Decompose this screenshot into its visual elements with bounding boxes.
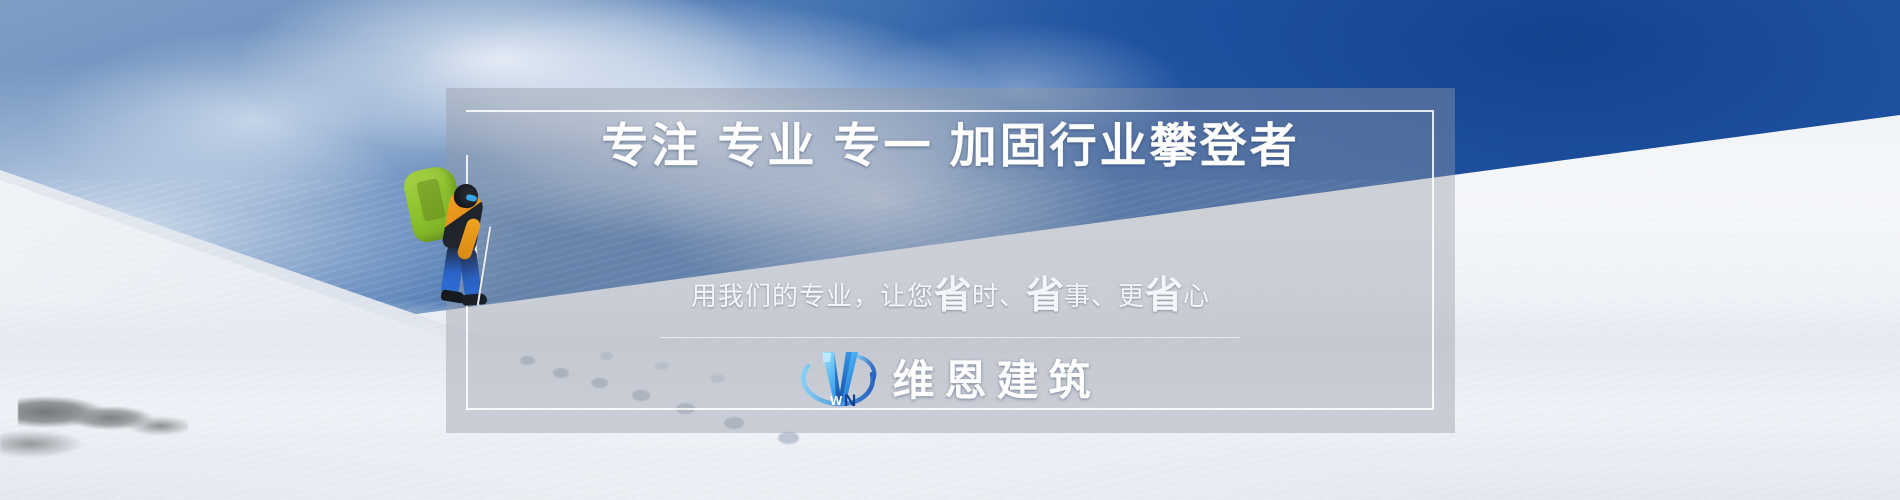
svg-text:N: N <box>844 391 856 408</box>
hero-banner: 专注 专业 专一 加固行业攀登者 用我们的专业，让您省时、省事、更省心 <box>0 0 1900 500</box>
svg-text:W: W <box>830 393 843 408</box>
brand-row: W N 维恩建筑 <box>446 346 1455 408</box>
subtitle-part-1: 用我们的专业，让您 <box>691 281 934 311</box>
brand-divider <box>660 337 1240 338</box>
subtitle-part-3: 事、更 <box>1064 281 1145 311</box>
banner-subtitle: 用我们的专业，让您省时、省事、更省心 <box>446 277 1455 315</box>
subtitle-part-4: 心 <box>1183 281 1210 311</box>
wn-monogram-icon: W N <box>800 346 878 408</box>
subtitle-emphasis-1: 省 <box>934 275 972 317</box>
subtitle-emphasis-3: 省 <box>1145 275 1183 317</box>
subtitle-part-2: 时、 <box>972 281 1026 311</box>
subtitle-emphasis-2: 省 <box>1026 275 1064 317</box>
brand-name: 维恩建筑 <box>892 347 1100 408</box>
banner-headline: 专注 专业 专一 加固行业攀登者 <box>446 118 1455 174</box>
